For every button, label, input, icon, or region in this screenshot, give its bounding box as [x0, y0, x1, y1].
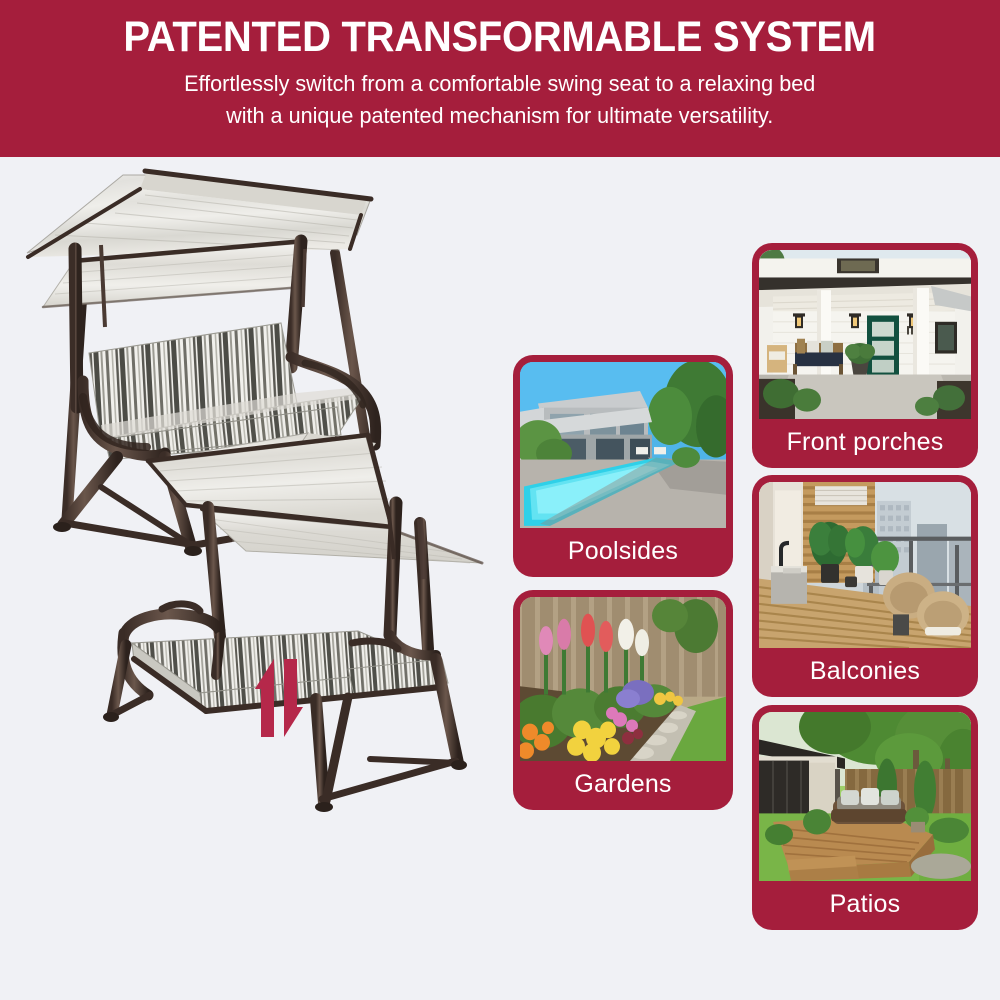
header-subtitle: Effortlessly switch from a comfortable s… — [184, 68, 815, 132]
card-front-porches-label: Front porches — [759, 419, 971, 468]
promo-infographic: PATENTED TRANSFORMABLE SYSTEM Effortless… — [0, 0, 1000, 1000]
card-balconies-label: Balconies — [759, 648, 971, 697]
card-poolsides-label: Poolsides — [520, 528, 726, 577]
header-banner: PATENTED TRANSFORMABLE SYSTEM Effortless… — [0, 0, 1000, 157]
patios-photo — [759, 712, 971, 881]
front-porches-photo — [759, 250, 971, 419]
up-down-transform-arrows-icon — [243, 659, 315, 737]
gardens-photo — [520, 597, 726, 761]
card-gardens-label: Gardens — [520, 761, 726, 810]
product-illustrations — [0, 157, 500, 1000]
swing-bed-illustration — [90, 419, 510, 819]
card-balconies[interactable]: Balconies — [752, 475, 978, 697]
page-title: PATENTED TRANSFORMABLE SYSTEM — [124, 16, 876, 59]
card-poolsides[interactable]: Poolsides — [513, 355, 733, 577]
card-gardens[interactable]: Gardens — [513, 590, 733, 810]
poolsides-photo — [520, 362, 726, 528]
balconies-photo — [759, 482, 971, 648]
header-subtitle-line-1: Effortlessly switch from a comfortable s… — [184, 68, 815, 100]
card-patios-label: Patios — [759, 881, 971, 930]
header-subtitle-line-2: with a unique patented mechanism for ult… — [184, 100, 815, 132]
card-front-porches[interactable]: Front porches — [752, 243, 978, 468]
card-patios[interactable]: Patios — [752, 705, 978, 930]
